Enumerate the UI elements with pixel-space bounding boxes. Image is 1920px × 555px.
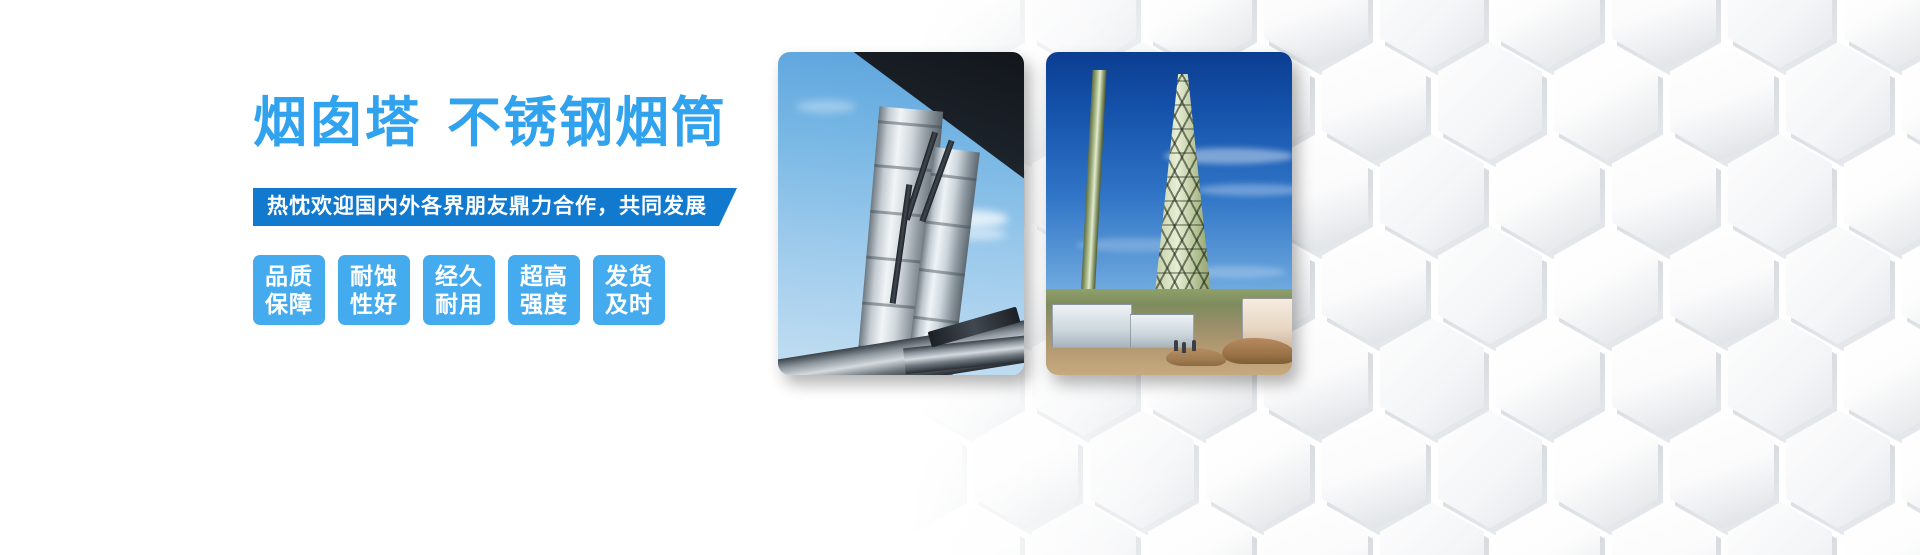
feature-badge[interactable]: 经久耐用 (423, 255, 495, 325)
photo-building (1052, 304, 1132, 348)
headline-part-1: 烟囱塔 (253, 93, 421, 153)
feature-badge-line-1: 发货 (605, 262, 653, 290)
product-photo-lattice-tower[interactable] (1046, 52, 1292, 375)
product-photo-chimney-stack[interactable] (778, 52, 1024, 375)
feature-badge[interactable]: 品质保障 (253, 255, 325, 325)
photo-cloud (796, 100, 856, 113)
feature-badge-line-1: 耐蚀 (350, 262, 398, 290)
photo-dirt-mound (1222, 338, 1292, 364)
photo-person (1182, 342, 1186, 353)
banner-text-content: 烟囱塔不锈钢烟筒 热忱欢迎国内外各界朋友鼎力合作，共同发展 品质保障耐蚀性好经久… (0, 0, 780, 555)
feature-badge-line-2: 性好 (350, 290, 398, 318)
promo-banner: 烟囱塔不锈钢烟筒 热忱欢迎国内外各界朋友鼎力合作，共同发展 品质保障耐蚀性好经久… (0, 0, 1920, 555)
feature-badge[interactable]: 发货及时 (593, 255, 665, 325)
subtitle-banner: 热忱欢迎国内外各界朋友鼎力合作，共同发展 (253, 188, 737, 226)
subtitle-text: 热忱欢迎国内外各界朋友鼎力合作，共同发展 (253, 188, 737, 226)
page-title: 烟囱塔不锈钢烟筒 (253, 92, 727, 154)
photo-person (1174, 340, 1178, 351)
feature-badge-line-1: 品质 (265, 262, 313, 290)
feature-badge-line-2: 强度 (520, 290, 568, 318)
feature-badge-line-2: 保障 (265, 290, 313, 318)
feature-badge-line-1: 经久 (435, 262, 483, 290)
feature-badge[interactable]: 超高强度 (508, 255, 580, 325)
feature-badge-line-2: 及时 (605, 290, 653, 318)
photo-person (1192, 340, 1196, 351)
headline-part-2: 不锈钢烟筒 (447, 93, 727, 153)
feature-badge-line-2: 耐用 (435, 290, 483, 318)
feature-badge-line-1: 超高 (520, 262, 568, 290)
feature-badge[interactable]: 耐蚀性好 (338, 255, 410, 325)
feature-badge-list: 品质保障耐蚀性好经久耐用超高强度发货及时 (253, 255, 665, 325)
